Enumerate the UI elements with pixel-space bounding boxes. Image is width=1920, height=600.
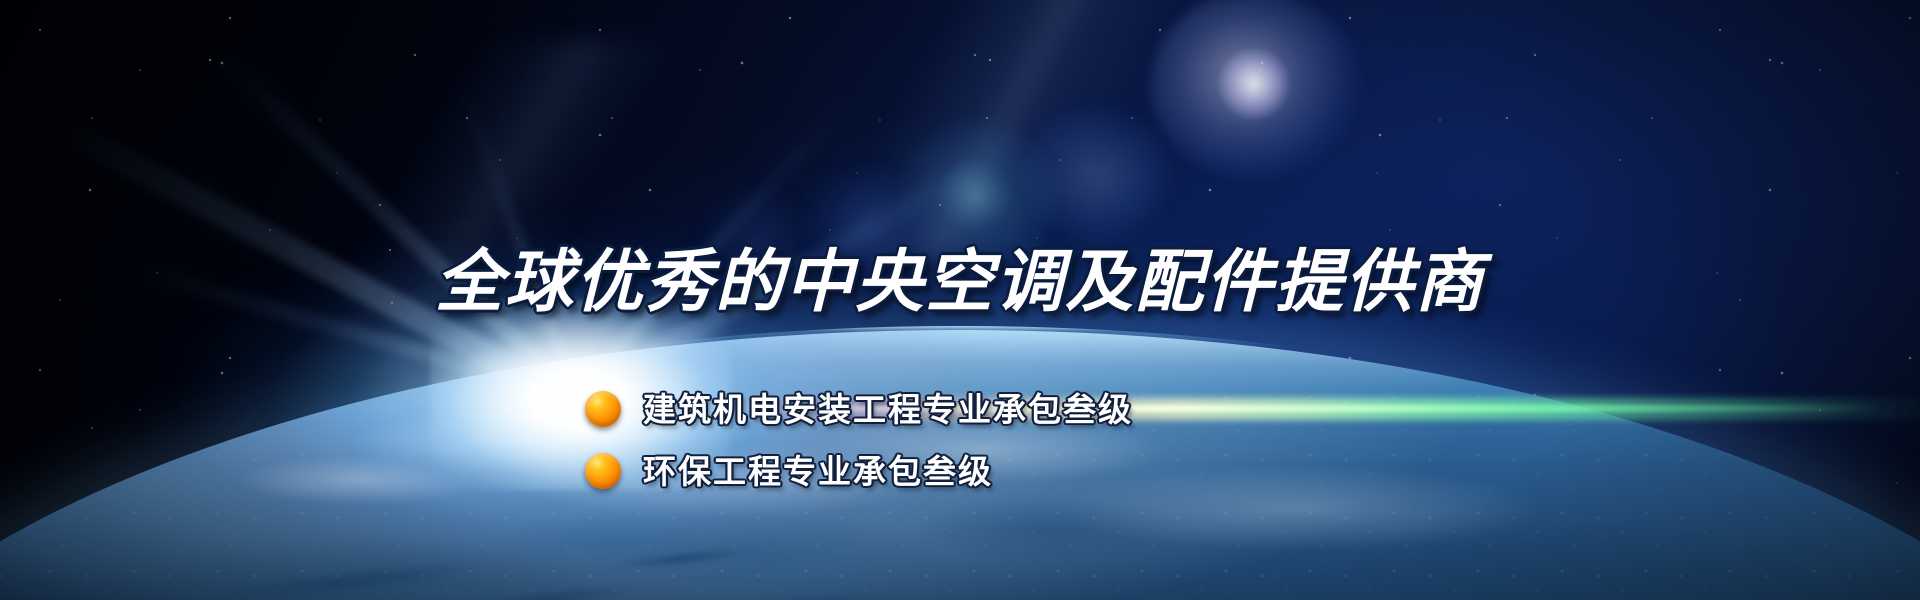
list-item-label: 建筑机电安装工程专业承包叁级 xyxy=(643,393,1133,426)
orange-dot-icon xyxy=(585,453,621,489)
list-item: 环保工程专业承包叁级 xyxy=(585,440,1133,502)
list-item-label: 环保工程专业承包叁级 xyxy=(643,455,993,488)
hero-banner: 全球优秀的中央空调及配件提供商 建筑机电安装工程专业承包叁级 环保工程专业承包叁… xyxy=(0,0,1920,600)
list-item: 建筑机电安装工程专业承包叁级 xyxy=(585,378,1133,440)
certification-list: 建筑机电安装工程专业承包叁级 环保工程专业承包叁级 xyxy=(585,378,1133,502)
orange-dot-icon xyxy=(585,391,621,427)
banner-headline: 全球优秀的中央空调及配件提供商 xyxy=(0,248,1920,316)
banner-content: 全球优秀的中央空调及配件提供商 建筑机电安装工程专业承包叁级 环保工程专业承包叁… xyxy=(0,0,1920,600)
